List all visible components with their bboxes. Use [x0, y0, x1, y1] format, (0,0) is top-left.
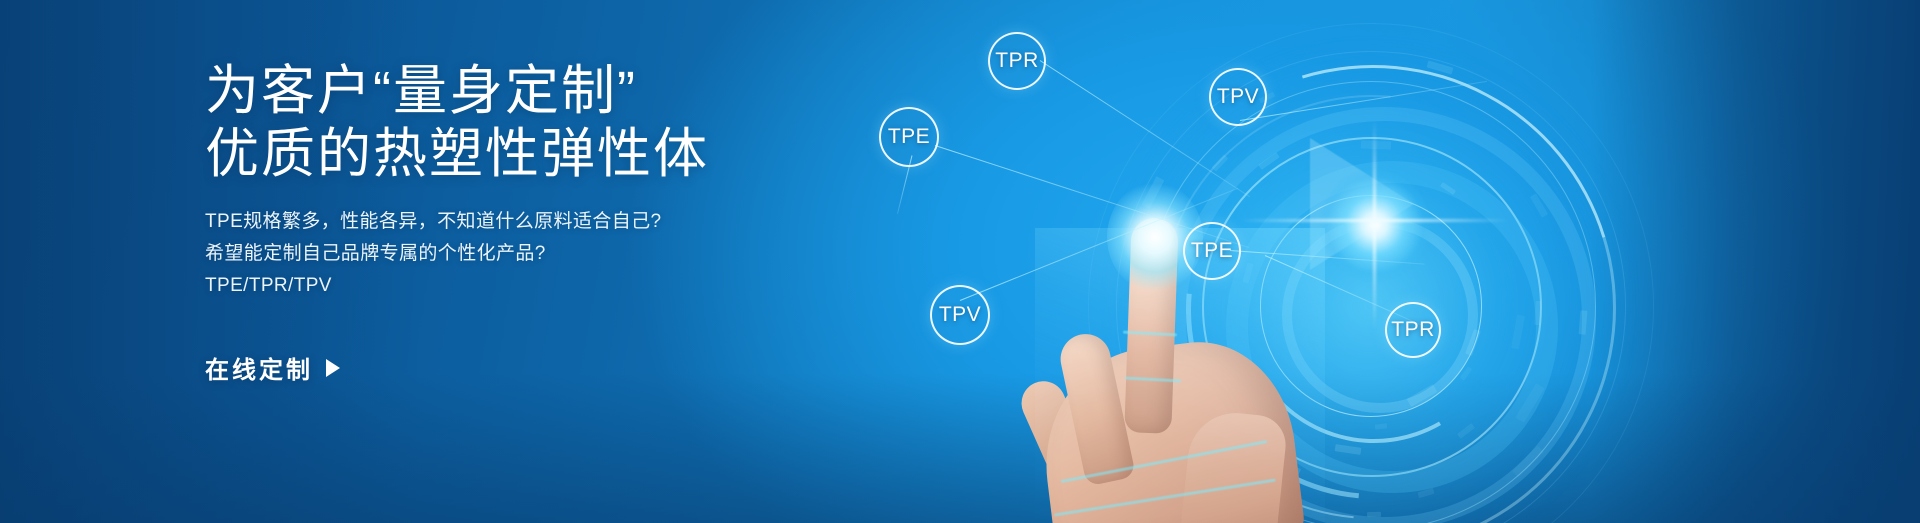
circuit-block: [1579, 310, 1588, 334]
badge-tpr-top[interactable]: TPR: [988, 32, 1046, 90]
subcopy-line-1: TPE规格繁多，性能各异，不知道什么原料适合自己?: [205, 208, 945, 235]
headline-line-2: 优质的热塑性弹性体: [205, 123, 945, 186]
headline-line-1: 为客户“量身定制”: [205, 61, 637, 121]
circuit-block: [1375, 423, 1387, 429]
badge-tpe-left[interactable]: TPE: [879, 107, 939, 167]
circuit-block: [1335, 444, 1362, 455]
circuit-block: [1258, 152, 1279, 170]
circuit-block: [1534, 301, 1541, 325]
badge-tpr-far-right[interactable]: TPR: [1385, 302, 1441, 358]
badge-label: TPV: [939, 303, 981, 327]
subcopy-line-3: TPE/TPR/TPV: [205, 272, 945, 299]
circuit-block: [1511, 314, 1525, 349]
circuit-block: [1418, 488, 1435, 498]
lens-flare-vertical: [1373, 120, 1376, 330]
badge-label: TPE: [888, 125, 930, 149]
circuit-block: [1440, 182, 1456, 195]
circuit-block: [1460, 366, 1472, 380]
circuit-block: [1427, 60, 1454, 74]
page-title: 为客户“量身定制” 优质的热塑性弹性体: [205, 60, 945, 186]
play-triangle-icon: [326, 359, 340, 377]
circuit-block: [1530, 193, 1548, 217]
hand-pointing-icon: [1035, 228, 1325, 523]
circuit-block: [1406, 384, 1437, 407]
online-customization-button[interactable]: 在线定制: [205, 350, 340, 385]
hero-subcopy: TPE规格繁多，性能各异，不知道什么原料适合自己? 希望能定制自己品牌专属的个性…: [205, 208, 945, 299]
badge-label: TPR: [1391, 318, 1435, 342]
circuit-block: [1367, 512, 1381, 517]
circuit-block: [1212, 155, 1229, 172]
badge-label: TPV: [1217, 85, 1259, 109]
hero-copy: 为客户“量身定制” 优质的热塑性弹性体 TPE规格繁多，性能各异，不知道什么原料…: [205, 60, 945, 385]
circuit-block: [1466, 329, 1482, 356]
cta-label: 在线定制: [205, 350, 313, 385]
badge-label: TPR: [995, 49, 1039, 73]
badge-tpv-upper-right[interactable]: TPV: [1209, 68, 1267, 126]
badge-tpv-lower-left[interactable]: TPV: [930, 285, 990, 345]
subcopy-line-2: 希望能定制自己品牌专属的个性化产品?: [205, 240, 945, 267]
hero-banner: TPR TPV TPE TPE TPV TPR 为客户“量身定制” 优质的热塑性…: [0, 0, 1920, 523]
badge-tpe-center-right[interactable]: TPE: [1183, 222, 1241, 280]
circuit-block: [1512, 445, 1544, 477]
badge-label: TPE: [1191, 239, 1233, 263]
circuit-block: [1457, 423, 1475, 439]
circuit-block: [1516, 384, 1545, 423]
